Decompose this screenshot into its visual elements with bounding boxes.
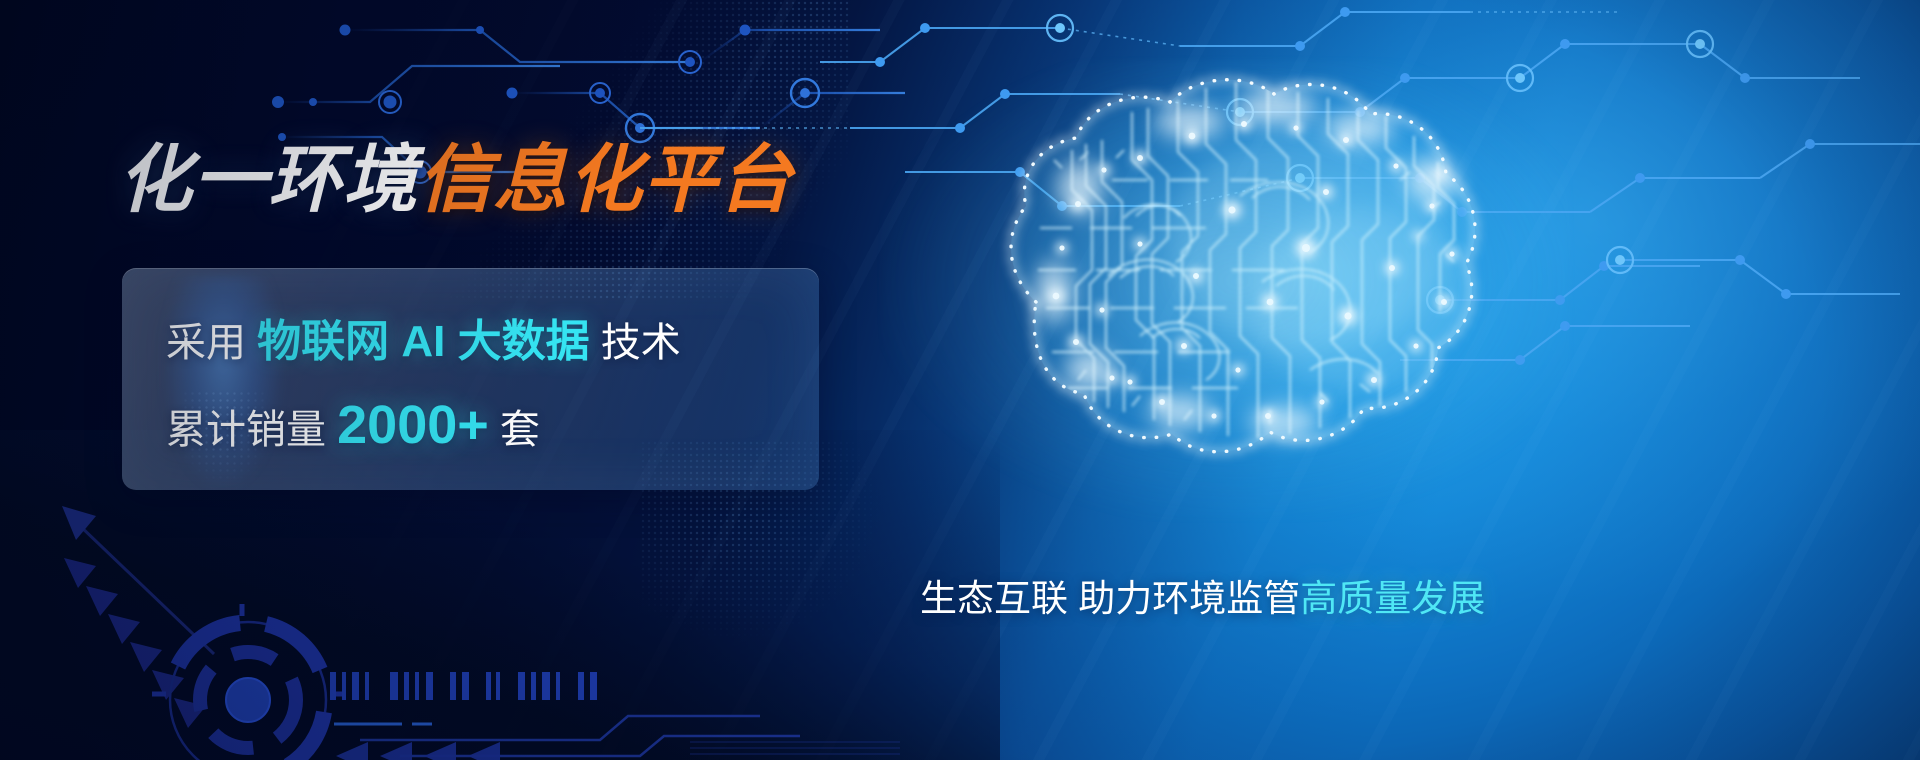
hero-banner: 化一环境信息化平台 采用 物联网 AI 大数据 技术 累计销量 2000+ 套 … bbox=[0, 0, 1920, 760]
background-vignette bbox=[0, 0, 1920, 760]
